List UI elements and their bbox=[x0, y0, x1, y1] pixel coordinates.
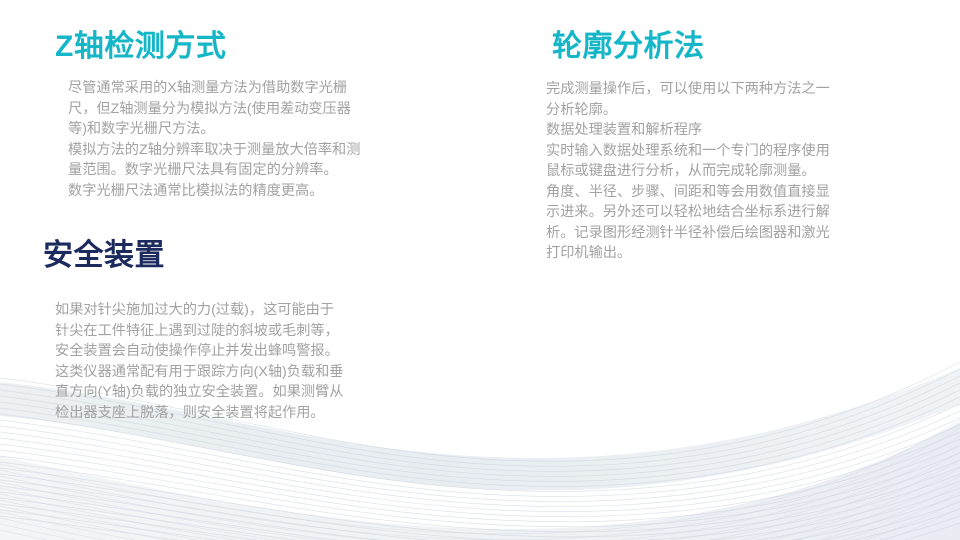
safety-device-heading: 安全装置 bbox=[42, 239, 462, 272]
z-axis-detection-body: 尽管通常采用的X轴测量方法为借助数字光栅 尺，但Z轴测量分为模拟方法(使用差动变… bbox=[42, 78, 440, 201]
profile-analysis-heading: 轮廓分析法 bbox=[540, 30, 940, 63]
left-content-column: Z轴检测方式 尽管通常采用的X轴测量方法为借助数字光栅 尺，但Z轴测量分为模拟方… bbox=[42, 30, 462, 423]
safety-device-body: 如果对针尖施加过大的力(过载)，这可能由于 针尖在工件特征上遇到过陡的斜坡或毛刺… bbox=[42, 300, 427, 423]
section-safety-device: 安全装置 如果对针尖施加过大的力(过载)，这可能由于 针尖在工件特征上遇到过陡的… bbox=[42, 239, 462, 423]
profile-analysis-body: 完成测量操作后，可以使用以下两种方法之一 分析轮廓。 数据处理装置和解析程序 实… bbox=[540, 79, 930, 264]
right-content-column: 轮廓分析法 完成测量操作后，可以使用以下两种方法之一 分析轮廓。 数据处理装置和… bbox=[540, 30, 940, 264]
z-axis-detection-heading: Z轴检测方式 bbox=[42, 30, 462, 63]
slide-canvas: Z轴检测方式 尽管通常采用的X轴测量方法为借助数字光栅 尺，但Z轴测量分为模拟方… bbox=[0, 0, 960, 540]
section-profile-analysis: 轮廓分析法 完成测量操作后，可以使用以下两种方法之一 分析轮廓。 数据处理装置和… bbox=[540, 30, 940, 264]
section-z-axis-detection: Z轴检测方式 尽管通常采用的X轴测量方法为借助数字光栅 尺，但Z轴测量分为模拟方… bbox=[42, 30, 462, 201]
